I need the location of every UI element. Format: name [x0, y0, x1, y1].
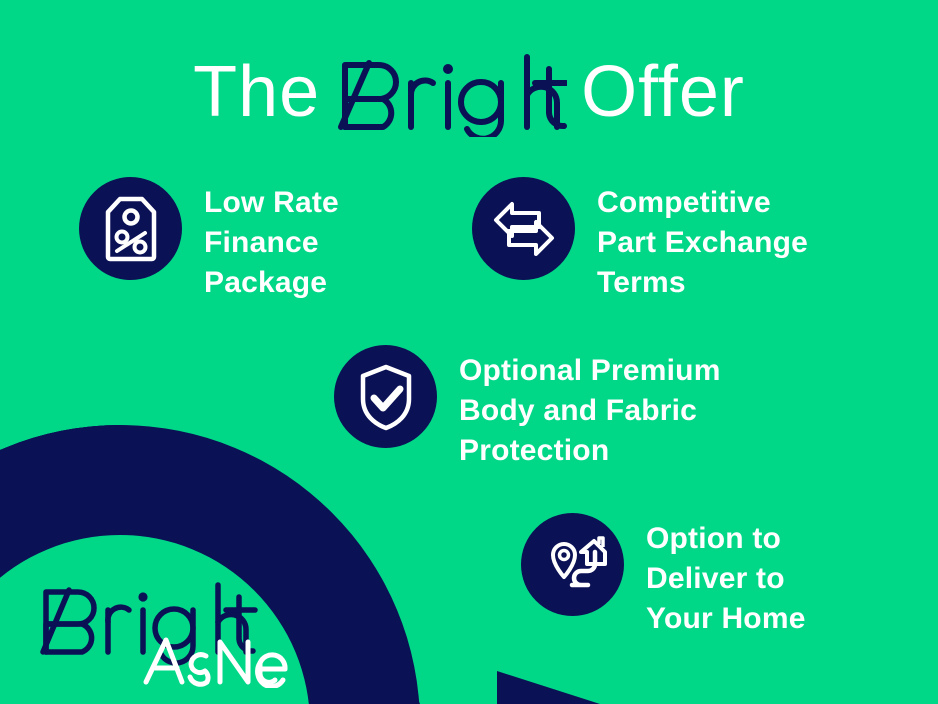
feature-icon-badge — [79, 177, 182, 280]
navy-wedge-shape — [497, 671, 600, 704]
map-pin-road-house-icon — [539, 534, 607, 596]
bright-wordmark-title — [335, 49, 567, 141]
title-prefix: The — [193, 52, 320, 132]
feature-icon-badge — [472, 177, 575, 280]
feature-icon-badge — [334, 345, 437, 448]
logo-bright-word — [43, 585, 255, 663]
feature-item-low-rate-finance: Low Rate Finance Package — [79, 177, 339, 303]
title-suffix: Offer — [581, 52, 745, 132]
feature-label: Low Rate Finance Package — [204, 177, 339, 303]
feature-label: Competitive Part Exchange Terms — [597, 177, 808, 303]
brand-logo-bright-as-new — [38, 578, 300, 688]
feature-label: Option to Deliver to Your Home — [646, 513, 806, 639]
price-tag-percent-icon — [102, 195, 160, 263]
exchange-arrows-icon — [493, 200, 555, 258]
feature-item-part-exchange: Competitive Part Exchange Terms — [472, 177, 808, 303]
bright-offer-graphic: The — [0, 0, 938, 704]
shield-check-icon — [357, 363, 415, 431]
feature-label: Optional Premium Body and Fabric Protect… — [459, 345, 721, 471]
feature-item-home-delivery: Option to Deliver to Your Home — [521, 513, 806, 639]
page-title: The — [0, 46, 938, 138]
feature-icon-badge — [521, 513, 624, 616]
feature-item-body-fabric-protection: Optional Premium Body and Fabric Protect… — [334, 345, 721, 471]
